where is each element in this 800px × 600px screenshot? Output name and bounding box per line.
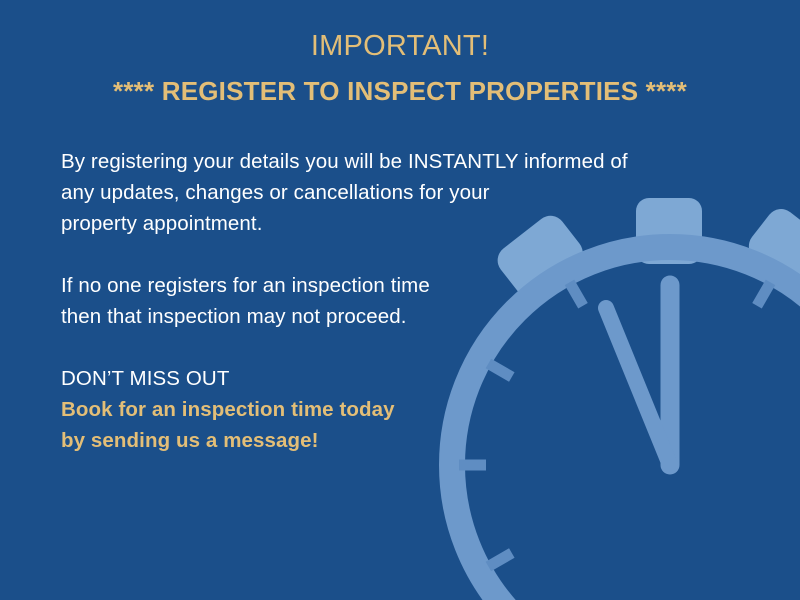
paragraph-spacer-2 <box>61 332 721 363</box>
slide-canvas: IMPORTANT! **** REGISTER TO INSPECT PROP… <box>0 0 800 600</box>
paragraph-spacer-1 <box>61 239 721 270</box>
heading-block: IMPORTANT! **** REGISTER TO INSPECT PROP… <box>0 28 800 108</box>
paragraph-no-registration-line-2: then that inspection may not proceed. <box>61 301 721 332</box>
cta-booking-line-2: by sending us a message! <box>61 425 721 456</box>
slide-content: IMPORTANT! **** REGISTER TO INSPECT PROP… <box>0 0 800 600</box>
cta-booking: Book for an inspection time today by sen… <box>61 394 721 456</box>
paragraph-registering-line-3: property appointment. <box>61 208 721 239</box>
heading-important: IMPORTANT! <box>0 28 800 64</box>
heading-register: **** REGISTER TO INSPECT PROPERTIES **** <box>0 74 800 108</box>
paragraph-registering: By registering your details you will be … <box>61 146 721 239</box>
paragraph-registering-line-2: any updates, changes or cancellations fo… <box>61 177 721 208</box>
paragraph-registering-line-1: By registering your details you will be … <box>61 146 721 177</box>
cta-dont-miss-out: DON’T MISS OUT <box>61 363 721 394</box>
paragraph-no-registration-line-1: If no one registers for an inspection ti… <box>61 270 721 301</box>
body-block: By registering your details you will be … <box>61 146 721 456</box>
cta-booking-line-1: Book for an inspection time today <box>61 394 721 425</box>
paragraph-no-registration: If no one registers for an inspection ti… <box>61 270 721 332</box>
